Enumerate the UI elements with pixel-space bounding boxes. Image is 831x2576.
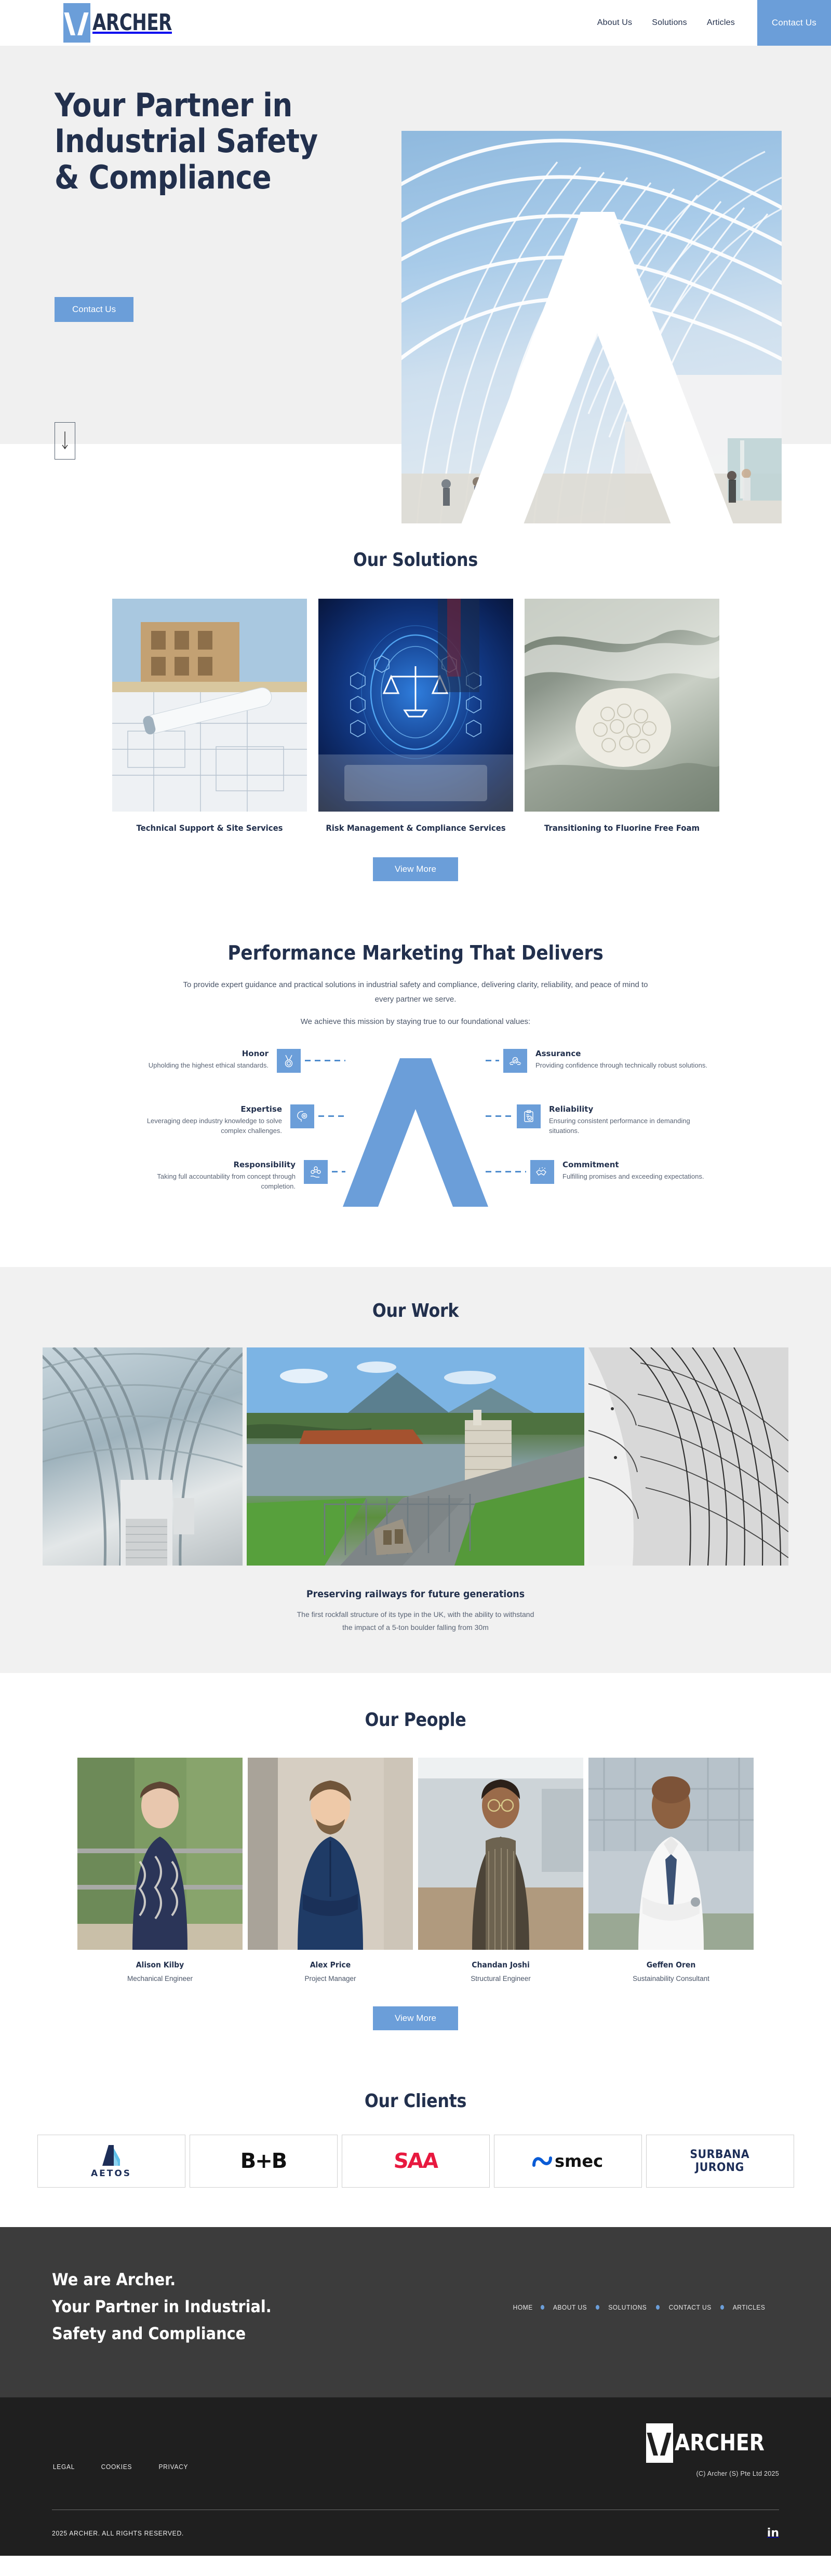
footer-nav-solutions[interactable]: SOLUTIONS: [608, 2303, 647, 2311]
footer-claim-line-2: Your Partner in Industrial.: [52, 2297, 272, 2316]
person-photo: [77, 1758, 243, 1950]
aetos-logo-icon: [96, 2144, 126, 2167]
person-name: Geffen Oren: [594, 1960, 748, 1970]
nav-item-about-us[interactable]: About Us: [597, 18, 632, 28]
people-grid: Alison Kilby Mechanical Engineer Alex Pr…: [0, 1758, 831, 1982]
work-image-steel-dome[interactable]: [588, 1347, 788, 1566]
person-card[interactable]: Geffen Oren Sustainability Consultant: [588, 1758, 754, 1982]
our-people-section: Our People: [0, 1673, 831, 2067]
footer-link-privacy[interactable]: PRIVACY: [158, 2463, 188, 2471]
value-desc: Upholding the highest ethical standards.: [122, 1060, 269, 1071]
linkedin-icon[interactable]: in: [767, 2528, 779, 2539]
client-name: B+B: [240, 2149, 287, 2173]
solutions-view-more-button[interactable]: View More: [373, 857, 458, 881]
person-photo: [248, 1758, 413, 1950]
footer-nav-home[interactable]: HOME: [513, 2303, 532, 2311]
hero-section: Your Partner in Industrial Safety & Comp…: [0, 46, 831, 482]
dam-walkway-graphic: [247, 1347, 584, 1566]
hero-image: [401, 131, 782, 523]
client-logo-surbana-jurong[interactable]: SURBANA JURONG: [646, 2135, 794, 2188]
arrow-down-icon: [61, 430, 69, 451]
hero-title-line-3: & Compliance: [55, 158, 271, 196]
footer-claim: We are Archer. Your Partner in Industria…: [52, 2267, 272, 2347]
solutions-title: Our Solutions: [50, 549, 781, 571]
person-role: Sustainability Consultant: [588, 1975, 754, 1982]
value-item-commitment: Commitment Fulfilling promises and excee…: [486, 1160, 709, 1216]
value-item-reliability: Reliability Ensuring consistent performa…: [486, 1104, 709, 1160]
connector-dash: [486, 1049, 503, 1073]
solution-card[interactable]: Transitioning to Fluorine Free Foam: [525, 599, 719, 834]
our-clients-section: Our Clients AETOS B+B SAA sme: [0, 2067, 831, 2227]
handshake-icon: [530, 1160, 554, 1184]
hero-contact-us-button[interactable]: Contact Us: [55, 297, 133, 322]
client-name: SAA: [393, 2149, 438, 2173]
clipboard-check-icon: [517, 1104, 541, 1128]
brand-logo[interactable]: ARCHER: [63, 3, 185, 43]
footer-claim-line-3: Safety and Compliance: [52, 2324, 246, 2343]
hand-network-icon: [304, 1160, 328, 1184]
hero-title-line-2: Industrial Safety: [55, 122, 318, 160]
client-logo-aetos[interactable]: AETOS: [37, 2135, 185, 2188]
portrait-graphic: [77, 1758, 243, 1950]
footer-rights: 2025 ARCHER. ALL RIGHTS RESERVED.: [52, 2529, 184, 2537]
connector-dash: [486, 1160, 530, 1184]
dot-separator-icon: [656, 2305, 660, 2310]
our-work-section: Our Work: [0, 1267, 831, 1674]
value-name: Responsibility: [122, 1160, 296, 1169]
footer-bottom: LEGAL COOKIES PRIVACY ARCHER (C) Archer …: [0, 2397, 831, 2556]
footer-link-cookies[interactable]: COOKIES: [101, 2463, 132, 2471]
person-card[interactable]: Alison Kilby Mechanical Engineer: [77, 1758, 243, 1982]
footer-legal-links: LEGAL COOKIES PRIVACY: [52, 2423, 189, 2471]
values-title: Performance Marketing That Delivers: [42, 941, 789, 964]
dot-separator-icon: [720, 2305, 724, 2310]
connector-dash: [486, 1104, 517, 1128]
portrait-graphic: [588, 1758, 754, 1950]
our-clients-title: Our Clients: [50, 2091, 781, 2112]
person-name: Alex Price: [253, 1960, 407, 1970]
value-item-expertise: Expertise Leveraging deep industry knowl…: [122, 1104, 345, 1160]
our-people-title: Our People: [50, 1709, 781, 1731]
person-name: Chandan Joshi: [424, 1960, 578, 1970]
nav-item-solutions[interactable]: Solutions: [652, 18, 687, 28]
brand-name: ARCHER: [92, 11, 172, 34]
portrait-graphic: [418, 1758, 583, 1950]
value-name: Expertise: [122, 1104, 282, 1114]
solution-caption: Risk Management & Compliance Services: [325, 822, 506, 834]
footer-brand: ARCHER (C) Archer (S) Pte Ltd 2025: [646, 2423, 779, 2477]
archer-a-logo-icon: [63, 3, 90, 43]
values-subtext: We achieve this mission by staying true …: [0, 1017, 831, 1026]
hero-a-overlay-icon: [401, 131, 782, 523]
client-logo-bplusb[interactable]: B+B: [190, 2135, 338, 2188]
solution-caption: Technical Support & Site Services: [119, 822, 300, 834]
value-name: Honor: [122, 1049, 269, 1058]
value-desc: Leveraging deep industry knowledge to so…: [122, 1116, 282, 1136]
header-contact-us-button[interactable]: Contact Us: [757, 0, 831, 46]
value-item-assurance: Assurance Providing confidence through t…: [486, 1049, 709, 1104]
value-name: Commitment: [562, 1160, 709, 1169]
person-photo: [418, 1758, 583, 1950]
solution-image-fluorine-free-foam: [525, 599, 719, 812]
value-desc: Fulfilling promises and exceeding expect…: [562, 1171, 709, 1182]
values-column-left: Honor Upholding the highest ethical stan…: [122, 1049, 345, 1216]
work-image-vaulted-walkway[interactable]: [43, 1347, 243, 1566]
work-image-dam-walkway[interactable]: [247, 1347, 584, 1566]
footer-brand-name: ARCHER: [675, 2432, 765, 2454]
head-gear-icon: [290, 1104, 314, 1128]
linkedin-label: in: [767, 2527, 779, 2540]
medal-icon: [277, 1049, 301, 1073]
work-caption-line-2: the impact of a 5-ton boulder falling fr…: [342, 1623, 489, 1631]
footer-nav: HOME ABOUT US SOLUTIONS CONTACT US ARTIC…: [512, 2303, 779, 2311]
person-photo: [588, 1758, 754, 1950]
footer-banner: We are Archer. Your Partner in Industria…: [0, 2227, 831, 2397]
connector-dash: [328, 1160, 345, 1184]
footer-nav-articles[interactable]: ARTICLES: [733, 2303, 766, 2311]
solution-image-technical-support: [112, 599, 307, 812]
solution-image-risk-management: [318, 599, 513, 812]
client-logo-smec[interactable]: smec: [494, 2135, 642, 2188]
footer-link-legal[interactable]: LEGAL: [53, 2463, 75, 2471]
clients-grid: AETOS B+B SAA smec SURBANA JURONG: [0, 2135, 831, 2188]
archer-a-mark-icon: [338, 1053, 493, 1209]
person-role: Structural Engineer: [418, 1975, 583, 1982]
scales-hologram-graphic: [318, 599, 513, 812]
person-name: Alison Kilby: [83, 1960, 237, 1970]
client-logo-saa[interactable]: SAA: [342, 2135, 490, 2188]
value-name: Reliability: [549, 1104, 709, 1114]
person-role: Mechanical Engineer: [77, 1975, 243, 1982]
solution-caption: Transitioning to Fluorine Free Foam: [531, 822, 713, 834]
value-desc: Taking full accountability from concept …: [122, 1171, 296, 1192]
connector-dash: [314, 1104, 345, 1128]
value-name: Assurance: [535, 1049, 709, 1058]
values-mission-text: To provide expert guidance and practical…: [174, 978, 657, 1007]
hero-title-line-1: Your Partner in: [55, 86, 292, 124]
footer-nav-contact-us[interactable]: CONTACT US: [668, 2303, 711, 2311]
footer-company-line: (C) Archer (S) Pte Ltd 2025: [646, 2470, 779, 2477]
our-work-caption: Preserving railways for future generatio…: [0, 1588, 831, 1635]
scroll-down-button[interactable]: [55, 422, 75, 460]
footer-nav-about-us[interactable]: ABOUT US: [553, 2303, 587, 2311]
our-work-gallery: [0, 1347, 831, 1566]
people-view-more-button[interactable]: View More: [373, 2006, 458, 2030]
blueprint-graphic: [112, 599, 307, 812]
connector-dash: [301, 1049, 345, 1073]
person-role: Project Manager: [248, 1975, 413, 1982]
solutions-section: Our Solutions: [0, 482, 831, 910]
values-column-right: Assurance Providing confidence through t…: [486, 1049, 709, 1216]
client-name: AETOS: [91, 2168, 131, 2179]
archer-a-logo-icon: [646, 2423, 673, 2463]
person-card[interactable]: Alex Price Project Manager: [248, 1758, 413, 1982]
main-nav: About Us Solutions Articles Contact Us: [587, 0, 831, 46]
vaulted-walkway-graphic: [43, 1347, 243, 1566]
site-header: ARCHER About Us Solutions Articles Conta…: [0, 0, 831, 46]
portrait-graphic: [248, 1758, 413, 1950]
our-work-title: Our Work: [50, 1300, 781, 1321]
value-desc: Ensuring consistent performance in deman…: [549, 1116, 709, 1136]
client-name-line-1: SURBANA: [690, 2148, 750, 2161]
dot-separator-icon: [541, 2305, 544, 2310]
solution-card[interactable]: Risk Management & Compliance Services: [318, 599, 513, 834]
sea-foam-graphic: [525, 599, 719, 812]
value-desc: Providing confidence through technically…: [535, 1060, 709, 1071]
person-card[interactable]: Chandan Joshi Structural Engineer: [418, 1758, 583, 1982]
dot-separator-icon: [596, 2305, 599, 2310]
nav-item-articles[interactable]: Articles: [707, 18, 735, 28]
steel-dome-graphic: [588, 1347, 788, 1566]
value-item-responsibility: Responsibility Taking full accountabilit…: [122, 1160, 345, 1216]
values-diagram: Honor Upholding the highest ethical stan…: [122, 1049, 709, 1215]
handshake-seal-icon: [503, 1049, 527, 1073]
client-name: smec: [555, 2151, 603, 2171]
values-section: Performance Marketing That Delivers To p…: [0, 910, 831, 1267]
work-caption-title: Preserving railways for future generatio…: [33, 1588, 798, 1600]
value-item-honor: Honor Upholding the highest ethical stan…: [122, 1049, 345, 1104]
client-name-line-2: JURONG: [695, 2161, 744, 2174]
footer-claim-line-1: We are Archer.: [52, 2270, 176, 2289]
work-caption-line-1: The first rockfall structure of its type…: [297, 1610, 534, 1619]
hero-title: Your Partner in Industrial Safety & Comp…: [55, 87, 318, 195]
solution-card[interactable]: Technical Support & Site Services: [112, 599, 307, 834]
solutions-grid: Technical Support & Site Services: [0, 599, 831, 834]
smec-logo-icon: [532, 2154, 552, 2168]
footer-divider: [52, 2510, 779, 2510]
